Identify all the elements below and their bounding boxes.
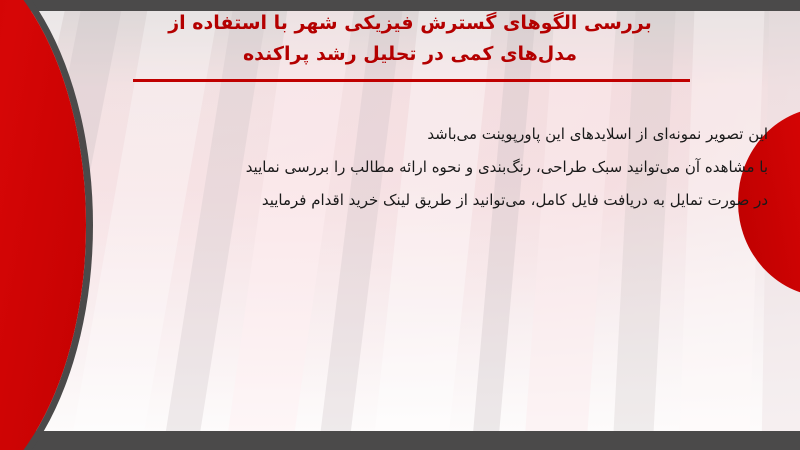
presentation-slide: بررسی الگوهای گسترش فیزیکی شهر با استفاد… [0, 0, 800, 450]
background-ribbon [297, 11, 422, 431]
background-ribbon [603, 11, 684, 431]
body-line-2: با مشاهده آن می‌توانید سبک طراحی، رنگ‌بن… [68, 151, 768, 184]
background-ribbon [456, 11, 550, 431]
title-underline-rule [133, 79, 690, 82]
background-ribbon [202, 11, 376, 431]
background-ribbon [512, 11, 628, 431]
slide-content-panel [0, 11, 800, 431]
slide-title-line-2: مدل‌های کمی در تحلیل رشد پراکنده [120, 39, 700, 70]
slide-body-text: این تصویر نمونه‌ای از اسلایدهای این پاور… [68, 118, 768, 217]
body-line-3: در صورت تمایل به دریافت فایل کامل، می‌تو… [68, 184, 768, 217]
body-line-1: این تصویر نمونه‌ای از اسلایدهای این پاور… [68, 118, 768, 151]
background-ribbon [136, 11, 292, 431]
slide-title-line-1: بررسی الگوهای گسترش فیزیکی شهر با استفاد… [120, 8, 700, 39]
slide-title: بررسی الگوهای گسترش فیزیکی شهر با استفاد… [120, 8, 700, 70]
background-ribbon [355, 11, 510, 431]
slide-frame-bottom [0, 431, 800, 450]
